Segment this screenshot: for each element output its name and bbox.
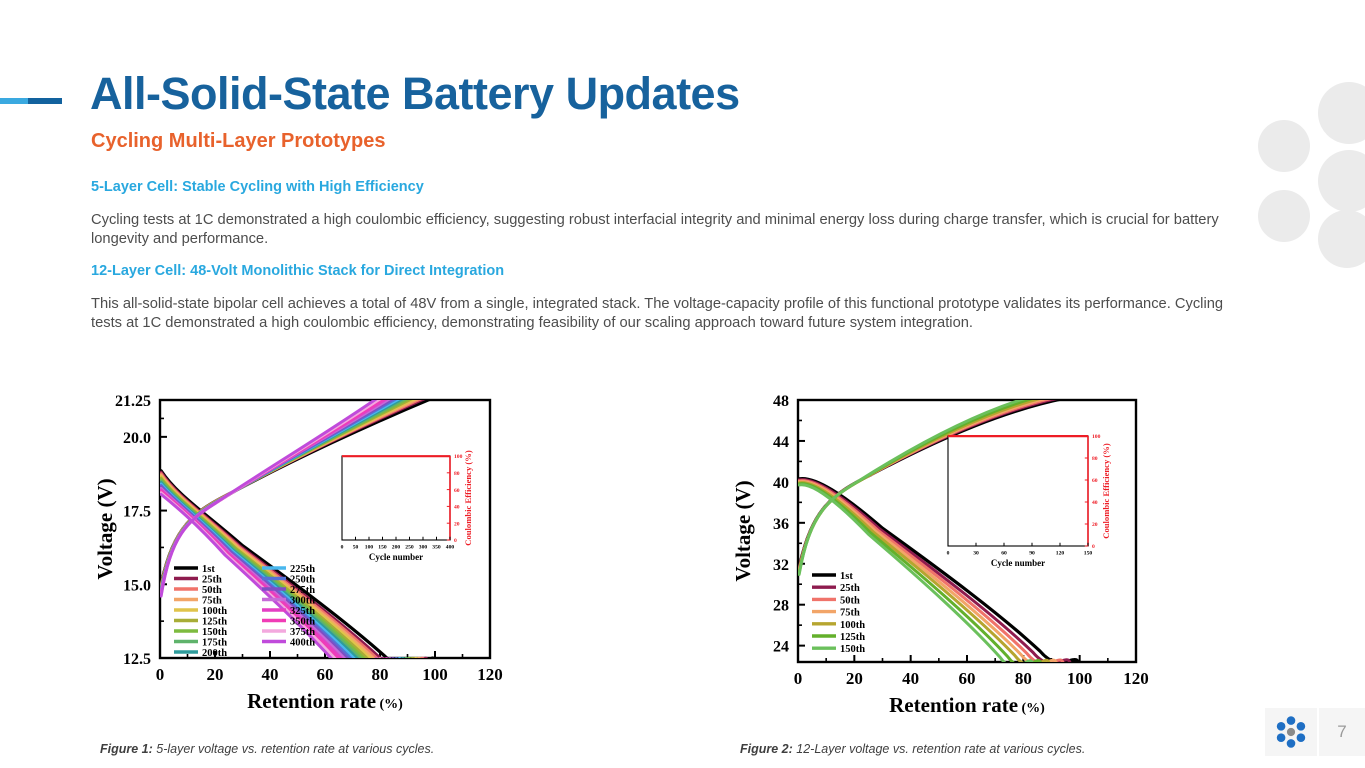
x-tick-label: 0	[794, 669, 803, 688]
y-tick-label: 32	[773, 557, 789, 574]
inset-y-tick-label: 100	[1092, 434, 1101, 440]
x-tick-label: 40	[902, 669, 919, 688]
company-logo	[1265, 708, 1317, 756]
accent-bar-light-segment	[0, 98, 30, 104]
chart-12-layer-voltage-vs-retention: 02040608010012024283236404448Voltage (V)…	[730, 378, 1160, 723]
inset-x-tick-label: 120	[1056, 551, 1065, 557]
inset-x-tick-label: 150	[1084, 551, 1093, 557]
inset-y-tick-label: 40	[1092, 500, 1098, 506]
inset-y-tick-label: 20	[1092, 522, 1098, 528]
section-body-12-layer: This all-solid-state bipolar cell achiev…	[91, 295, 1251, 332]
inset-y-axis-label: Coulombic Efficiency (%)	[463, 450, 473, 546]
legend-label: 150th	[202, 627, 227, 638]
inset-x-tick-label: 300	[419, 545, 428, 551]
legend-label: 300th	[290, 596, 315, 607]
title-accent-bar	[0, 98, 62, 104]
y-axis-label: Voltage (V)	[93, 478, 117, 579]
y-tick-label: 44	[773, 434, 789, 451]
inset-x-tick-label: 250	[405, 545, 414, 551]
legend-label: 100th	[840, 620, 865, 631]
x-tick-label: 20	[846, 669, 863, 688]
legend-label: 75th	[202, 596, 222, 607]
legend-label: 50th	[840, 595, 860, 606]
section-heading-5-layer: 5-Layer Cell: Stable Cycling with High E…	[91, 179, 424, 195]
inset-x-tick-label: 50	[353, 545, 359, 551]
legend-label: 400th	[290, 638, 315, 649]
legend-label: 25th	[202, 575, 222, 586]
legend-label: 225th	[290, 564, 315, 575]
inset-y-tick-label: 60	[1092, 478, 1098, 484]
inset-x-tick-label: 150	[378, 545, 387, 551]
y-tick-label: 48	[773, 393, 789, 410]
inset-y-tick-label: 40	[454, 505, 460, 511]
slide-title: All-Solid-State Battery Updates	[90, 70, 740, 117]
decorative-circle	[1318, 82, 1365, 144]
decorative-circle	[1318, 150, 1365, 212]
inset-x-tick-label: 100	[365, 545, 374, 551]
x-tick-label: 80	[1015, 669, 1032, 688]
legend-label: 1st	[202, 564, 215, 575]
inset-x-tick-label: 350	[432, 545, 441, 551]
inset-y-tick-label: 80	[454, 471, 460, 477]
x-tick-label: 120	[477, 665, 503, 684]
x-axis-label: Retention rate (%)	[247, 689, 403, 713]
x-tick-label: 100	[422, 665, 448, 684]
y-tick-label: 36	[773, 516, 789, 533]
legend-label: 350th	[290, 617, 315, 628]
legend-label: 125th	[202, 617, 227, 628]
figure-2-container: 02040608010012024283236404448Voltage (V)…	[730, 378, 1160, 768]
x-axis-label: Retention rate (%)	[889, 693, 1045, 717]
y-tick-label: 24	[773, 639, 789, 656]
y-tick-label: 21.25	[115, 393, 151, 410]
legend-label: 375th	[290, 627, 315, 638]
inset-x-tick-label: 0	[341, 545, 344, 551]
page-number: 7	[1319, 708, 1365, 756]
legend-label: 150th	[840, 644, 865, 655]
x-tick-label: 60	[317, 665, 334, 684]
legend-label: 1st	[840, 571, 853, 582]
inset-y-axis-label: Coulombic Efficiency (%)	[1101, 443, 1111, 539]
figure-1-caption-label: Figure 1:	[100, 742, 153, 756]
inset-y-tick-label: 80	[1092, 456, 1098, 462]
legend-label: 275th	[290, 585, 315, 596]
legend-label: 200th	[202, 648, 227, 659]
inset-x-tick-label: 200	[392, 545, 401, 551]
y-tick-label: 20.0	[123, 430, 151, 447]
legend-label: 50th	[202, 585, 222, 596]
y-tick-label: 12.5	[123, 651, 151, 668]
inset-y-tick-label: 0	[1092, 544, 1095, 550]
inset-y-tick-label: 0	[454, 538, 457, 544]
legend-label: 325th	[290, 606, 315, 617]
inset-x-axis-label: Cycle number	[369, 552, 423, 562]
y-tick-label: 17.5	[123, 504, 151, 521]
legend-label: 25th	[840, 583, 860, 594]
inset-y-tick-label: 60	[454, 488, 460, 494]
decorative-circles	[1250, 82, 1365, 267]
x-tick-label: 100	[1067, 669, 1093, 688]
y-tick-label: 28	[773, 598, 789, 615]
legend-label: 175th	[202, 638, 227, 649]
legend-label: 100th	[202, 606, 227, 617]
figure-2-caption: Figure 2: 12-Layer voltage vs. retention…	[740, 742, 1085, 756]
y-tick-label: 15.0	[123, 577, 151, 594]
inset-y-tick-label: 20	[454, 521, 460, 527]
inset-x-tick-label: 400	[446, 545, 455, 551]
x-tick-label: 60	[959, 669, 976, 688]
x-tick-label: 0	[156, 665, 165, 684]
accent-bar-dark-segment	[28, 98, 62, 104]
legend-label: 250th	[290, 575, 315, 586]
inset-x-tick-label: 90	[1029, 551, 1035, 557]
chart-5-layer-voltage-vs-retention: 02040608010012012.515.017.520.021.25Volt…	[92, 378, 512, 718]
decorative-circle	[1258, 120, 1310, 172]
y-tick-label: 40	[773, 475, 789, 492]
figure-1-container: 02040608010012012.515.017.520.021.25Volt…	[92, 378, 512, 768]
inset-x-axis-label: Cycle number	[991, 558, 1045, 568]
legend-label: 125th	[840, 632, 865, 643]
x-tick-label: 40	[262, 665, 279, 684]
inset-y-tick-label: 100	[454, 454, 463, 460]
figure-1-caption: Figure 1: 5-layer voltage vs. retention …	[100, 742, 434, 756]
decorative-circle	[1318, 210, 1365, 268]
inset-x-tick-label: 0	[947, 551, 950, 557]
flower-logo-icon	[1274, 715, 1308, 749]
slide-subtitle: Cycling Multi-Layer Prototypes	[91, 130, 386, 153]
inset-x-tick-label: 60	[1001, 551, 1007, 557]
section-body-5-layer: Cycling tests at 1C demonstrated a high …	[91, 211, 1251, 248]
figure-2-caption-label: Figure 2:	[740, 742, 793, 756]
x-tick-label: 120	[1123, 669, 1149, 688]
decorative-circle	[1258, 190, 1310, 242]
legend-label: 75th	[840, 608, 860, 619]
section-heading-12-layer: 12-Layer Cell: 48-Volt Monolithic Stack …	[91, 263, 504, 279]
x-tick-label: 80	[372, 665, 389, 684]
figure-1-caption-text: 5-layer voltage vs. retention rate at va…	[153, 742, 434, 756]
y-axis-label: Voltage (V)	[731, 480, 755, 581]
figure-2-caption-text: 12-Layer voltage vs. retention rate at v…	[793, 742, 1086, 756]
inset-x-tick-label: 30	[973, 551, 979, 557]
x-tick-label: 20	[207, 665, 224, 684]
